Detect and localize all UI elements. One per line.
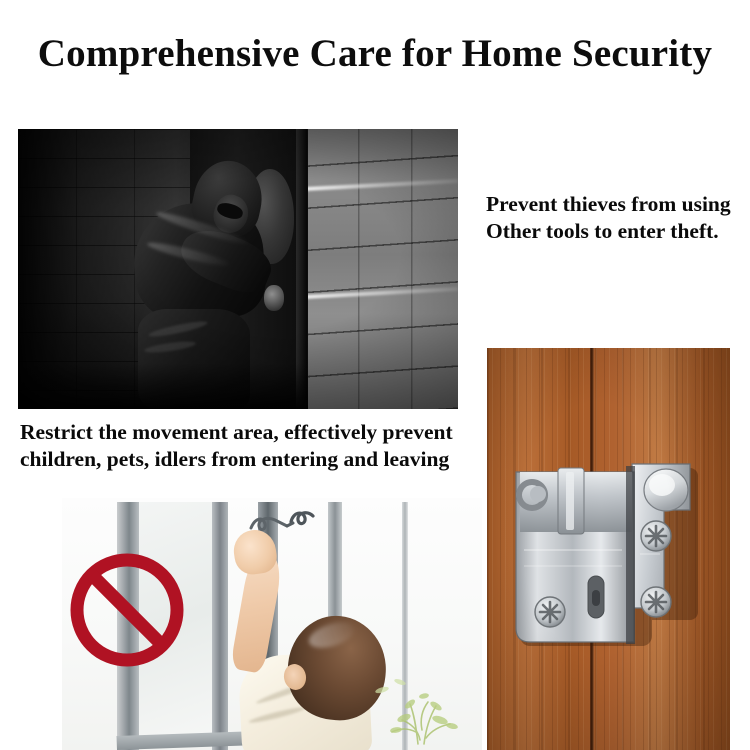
no-entry-prohibition-icon <box>68 551 186 669</box>
burglar-hands <box>264 285 284 311</box>
floor-shadow <box>18 363 308 409</box>
window-frame-mullion <box>212 502 228 750</box>
burglar-photo <box>18 129 458 409</box>
light-block-wall <box>305 129 458 409</box>
callout-restrict-movement: Restrict the movement area, effectively … <box>20 419 475 472</box>
callout-prevent-thieves: Prevent thieves from using Other tools t… <box>486 191 736 244</box>
infographic-page: Comprehensive Care for Home Security Pre… <box>0 0 750 750</box>
page-title: Comprehensive Care for Home Security <box>0 30 750 78</box>
plant-foliage-icon <box>374 660 470 746</box>
wood-photo-vignette <box>487 348 730 750</box>
latch-product-photo <box>487 348 730 750</box>
